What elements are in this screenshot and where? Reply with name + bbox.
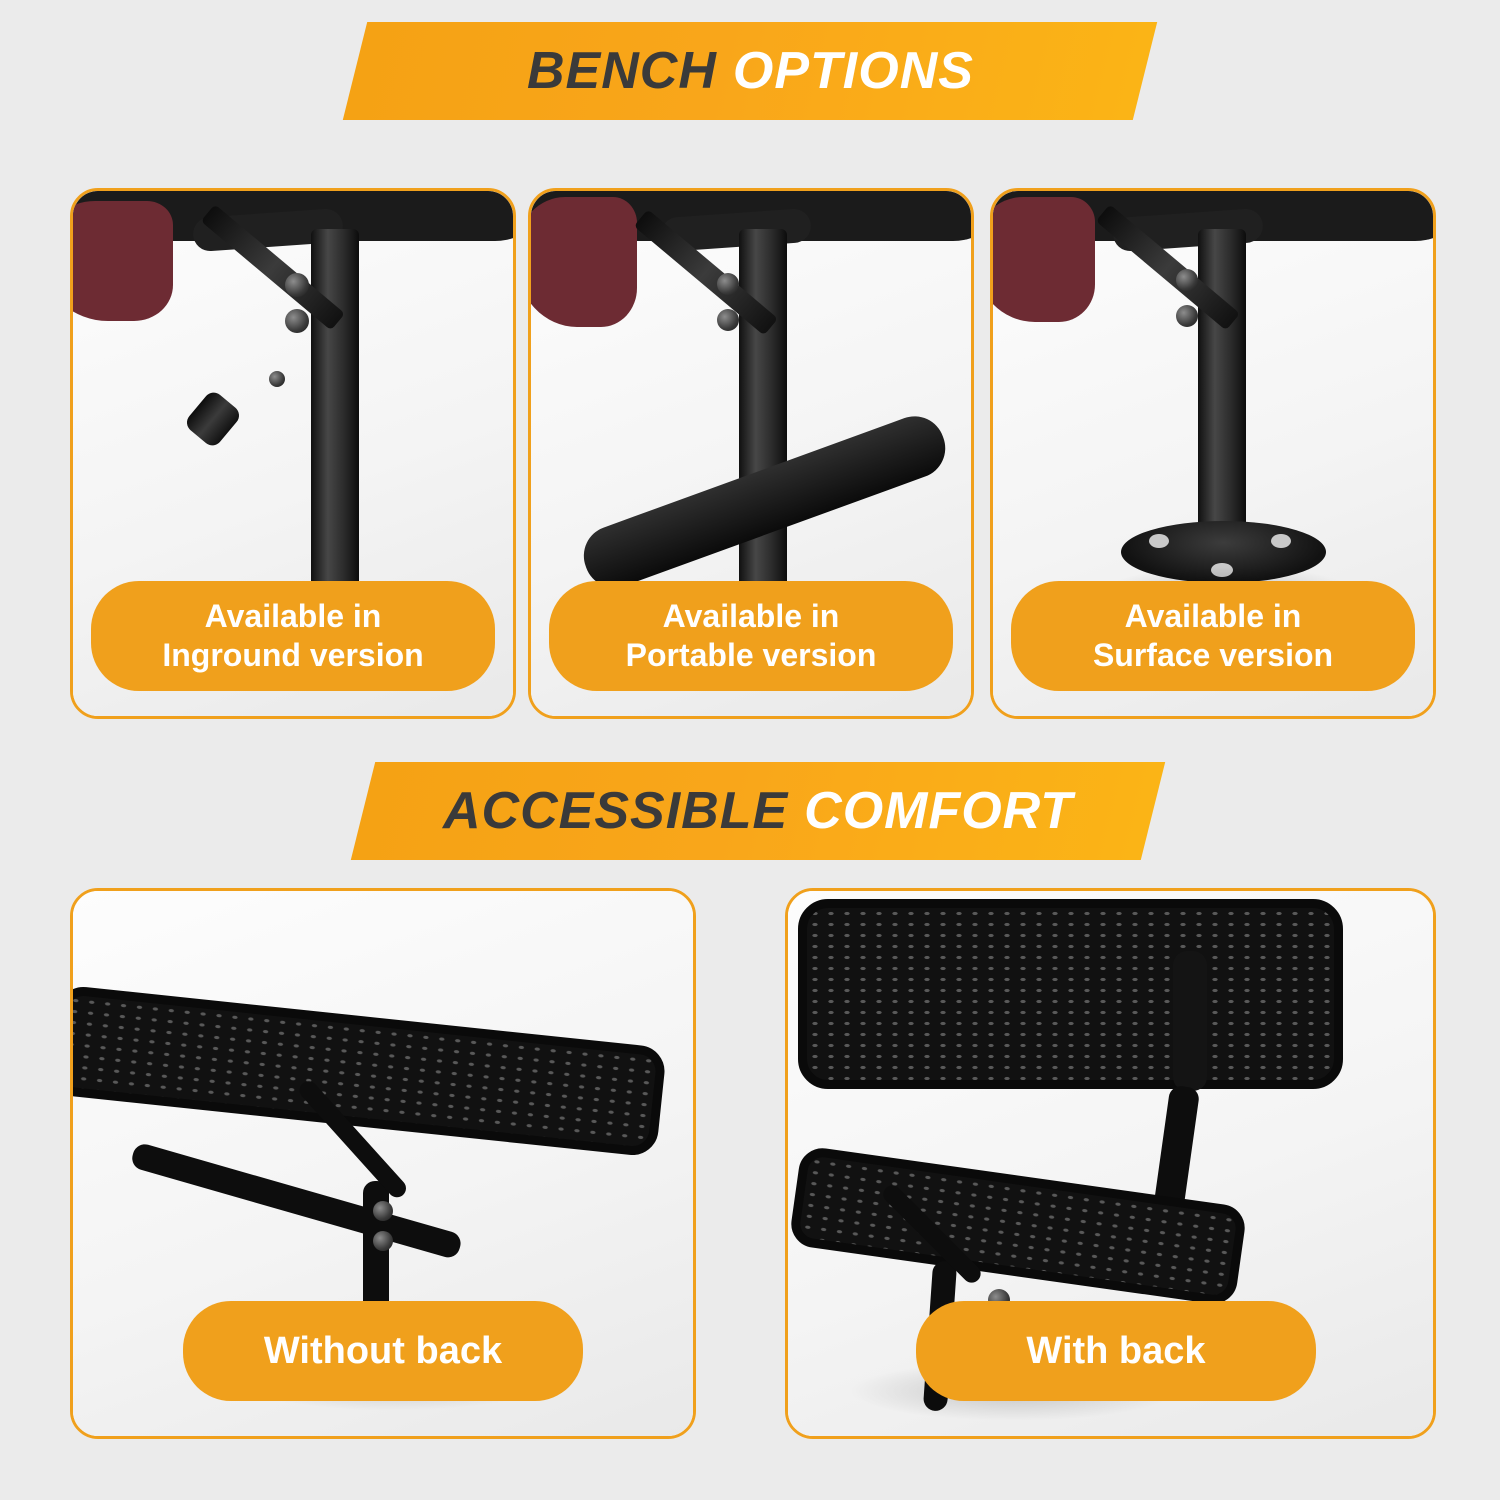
- label-portable-line2: Portable version: [626, 637, 877, 673]
- bolt-icon: [373, 1231, 393, 1251]
- label-with-back-text: With back: [1026, 1328, 1205, 1374]
- card-surface[interactable]: Available in Surface version: [990, 188, 1436, 719]
- bench-leg-icon: [311, 229, 359, 629]
- label-without-back: Without back: [183, 1301, 583, 1401]
- label-with-back: With back: [916, 1301, 1316, 1401]
- label-inground-line1: Available in: [205, 598, 382, 634]
- bolt-icon: [269, 371, 285, 387]
- product-infographic: BENCH OPTIONS Available in In: [0, 0, 1500, 1500]
- section-heading-accessible-comfort: ACCESSIBLE COMFORT: [351, 762, 1165, 860]
- bench-leg-icon: [1198, 229, 1246, 539]
- label-portable-line1: Available in: [663, 598, 840, 634]
- label-portable: Available in Portable version: [549, 581, 953, 691]
- heading-dark-accessible: ACCESSIBLE: [443, 781, 788, 841]
- label-surface-line1: Available in: [1125, 598, 1302, 634]
- label-surface: Available in Surface version: [1011, 581, 1415, 691]
- label-inground: Available in Inground version: [91, 581, 495, 691]
- section-heading-bench-options: BENCH OPTIONS: [343, 22, 1157, 120]
- bolt-icon: [285, 273, 309, 297]
- label-without-back-text: Without back: [264, 1328, 502, 1374]
- heading-light-comfort: COMFORT: [804, 781, 1073, 841]
- bolt-icon: [373, 1201, 393, 1221]
- anchor-bolt-icon: [1271, 534, 1291, 548]
- fabric-corner-icon: [531, 197, 637, 327]
- card-inground[interactable]: Available in Inground version: [70, 188, 516, 719]
- bench-backrest-mesh-icon: [798, 899, 1343, 1089]
- bolt-icon: [1176, 269, 1198, 291]
- card-without-back[interactable]: Without back: [70, 888, 696, 1439]
- label-inground-line2: Inground version: [162, 637, 423, 673]
- label-surface-line2: Surface version: [1093, 637, 1333, 673]
- heading-dark-bench: BENCH: [527, 41, 717, 101]
- card-portable[interactable]: Available in Portable version: [528, 188, 974, 719]
- bolt-icon: [717, 273, 739, 295]
- bolt-icon: [1176, 305, 1198, 327]
- anchor-bolt-icon: [1149, 534, 1169, 548]
- bolt-icon: [285, 309, 309, 333]
- fabric-corner-icon: [73, 201, 173, 321]
- backrest-center-post-icon: [1173, 951, 1207, 1091]
- bolt-icon: [717, 309, 739, 331]
- card-with-back[interactable]: With back: [785, 888, 1436, 1439]
- heading-light-options: OPTIONS: [732, 41, 973, 101]
- fabric-corner-icon: [993, 197, 1095, 322]
